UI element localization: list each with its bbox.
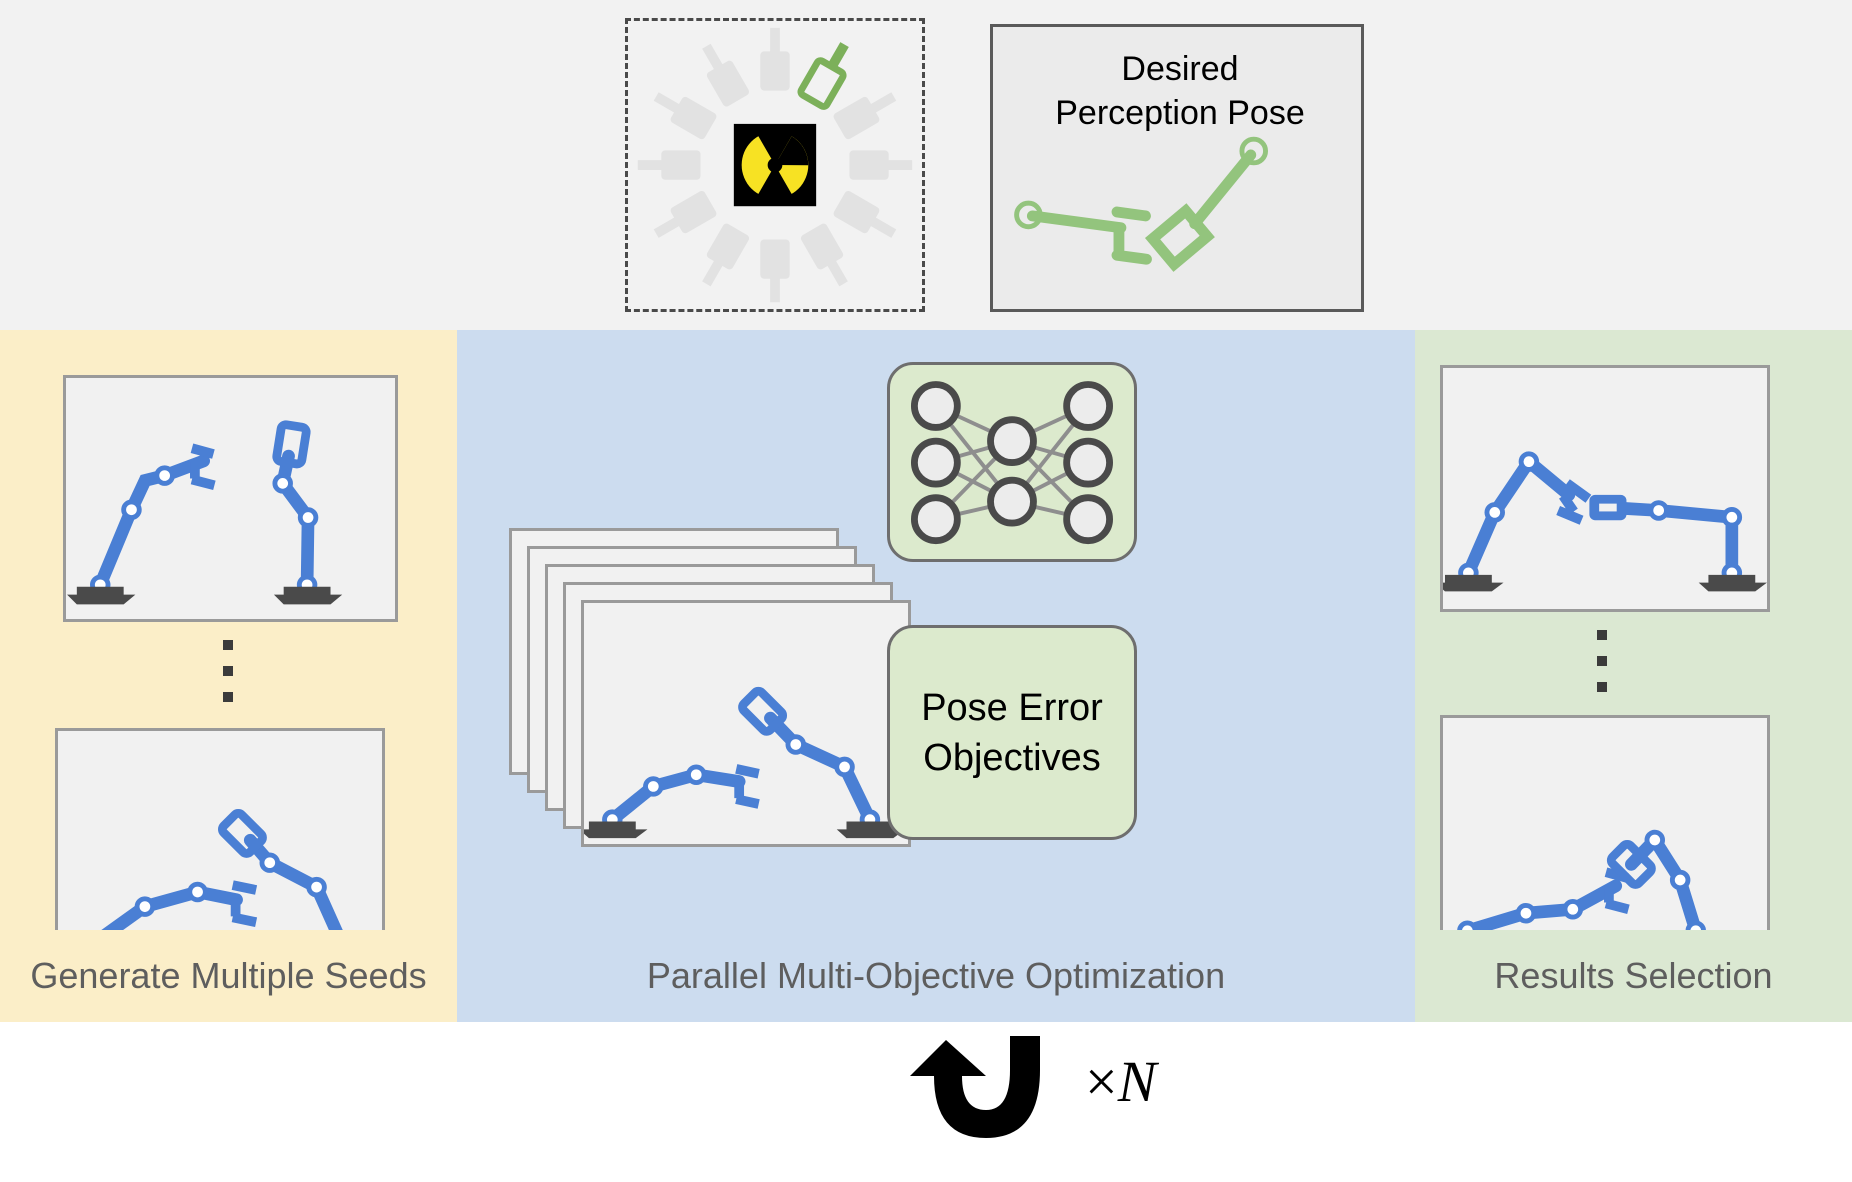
neural-network-graph xyxy=(890,365,1134,560)
loop-count-symbol: N xyxy=(1118,1049,1157,1114)
neural-network-card[interactable] xyxy=(887,362,1137,562)
radiation-icon xyxy=(734,124,817,206)
desired-pose-title-line1: Desired xyxy=(993,47,1367,91)
gripper-fingers xyxy=(1117,212,1147,259)
objectives-label: Pose Error Objectives xyxy=(890,628,1134,837)
network-nodes xyxy=(914,385,1109,541)
camera-icon xyxy=(800,222,857,291)
camera-icon xyxy=(832,190,901,247)
desired-pose-title-line2: Perception Pose xyxy=(993,91,1367,135)
candidate-pose-sampling-box xyxy=(625,18,925,312)
camera-icon-selected xyxy=(800,37,858,108)
camera-icon xyxy=(849,150,912,179)
desired-pose-title: Desired Perception Pose xyxy=(993,47,1367,135)
column-generate-seeds xyxy=(0,330,457,930)
camera-right xyxy=(741,689,785,733)
label-results-selection: Results Selection xyxy=(1415,930,1852,1022)
loop-arrow-icon xyxy=(900,1030,1070,1150)
column-results-selection xyxy=(1415,330,1852,930)
camera-right xyxy=(220,811,264,855)
footer-parallel-optimization: Parallel Multi-Objective Optimization xyxy=(457,930,1415,1022)
camera-icon xyxy=(649,190,718,247)
camera-icon xyxy=(832,84,901,141)
column-parallel-optimization: Pose Error Objectives xyxy=(457,330,1415,930)
loop-count-label: ×N xyxy=(1085,1048,1156,1115)
top-band: Desired Perception Pose xyxy=(0,0,1852,330)
footer-results-selection: Results Selection xyxy=(1415,930,1852,1022)
desired-perception-pose-box: Desired Perception Pose xyxy=(990,24,1364,312)
seeds-ellipsis xyxy=(221,640,235,718)
camera-icon xyxy=(760,28,789,91)
robot-bases xyxy=(67,587,342,605)
gripper-left xyxy=(233,885,256,922)
camera-icon xyxy=(649,84,718,141)
robot-arm-left-links xyxy=(100,476,164,585)
result-pose-panel-1[interactable] xyxy=(1440,365,1770,612)
gripper-link xyxy=(1032,216,1121,228)
camera-icon xyxy=(760,240,789,303)
result-pose-panel-n[interactable] xyxy=(1440,715,1770,965)
sampling-illustration xyxy=(628,21,922,309)
camera-lens xyxy=(1599,504,1617,512)
label-generate-seeds: Generate Multiple Seeds xyxy=(0,930,457,1022)
camera-icon xyxy=(694,39,751,108)
camera-link xyxy=(1195,155,1251,224)
camera-icon xyxy=(638,150,701,179)
objectives-label-line1: Pose Error xyxy=(921,683,1103,733)
label-parallel-optimization: Parallel Multi-Objective Optimization xyxy=(457,930,1415,1022)
gripper-left xyxy=(736,769,758,804)
camera-icon xyxy=(694,222,751,291)
robot-arm-right-links xyxy=(1659,510,1732,572)
results-ellipsis xyxy=(1595,630,1609,708)
robot-bases xyxy=(584,822,905,839)
robot-bases xyxy=(1443,575,1767,592)
pose-error-objectives-card[interactable]: Pose Error Objectives xyxy=(887,625,1137,840)
candidate-stack-layer-1[interactable] xyxy=(581,600,911,847)
camera-body xyxy=(1153,211,1208,264)
times-symbol: × xyxy=(1085,1049,1118,1114)
seed-pose-panel-1[interactable] xyxy=(63,375,398,622)
footer-generate-seeds: Generate Multiple Seeds xyxy=(0,930,457,1022)
objectives-label-line2: Objectives xyxy=(923,733,1100,783)
robot-arm-right-links xyxy=(796,744,870,819)
